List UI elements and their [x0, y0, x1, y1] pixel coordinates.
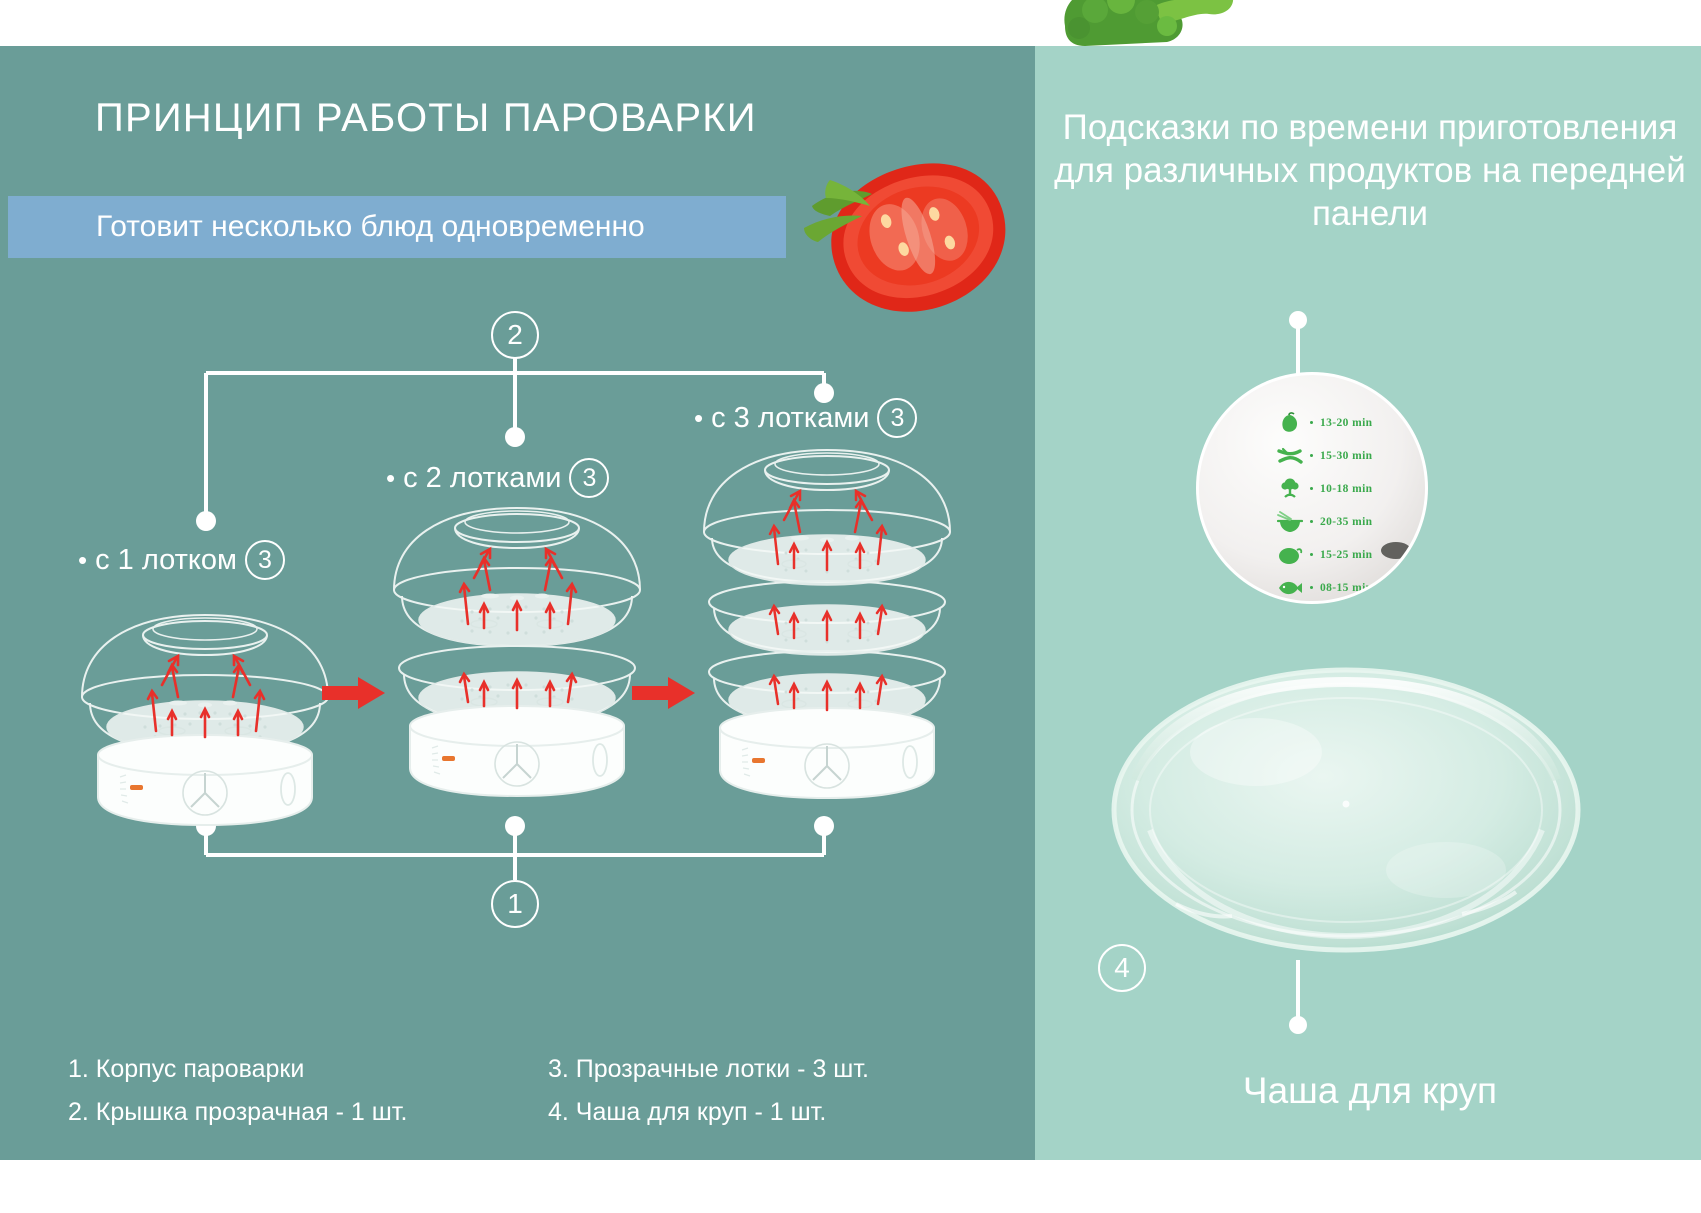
- bullet-icon: •: [694, 405, 703, 431]
- chart-time-fish: 08-15 min: [1320, 582, 1372, 594]
- top-white-margin-left: [0, 0, 1035, 46]
- front-panel-photo: 13-20 min 15-30 min: [1196, 372, 1428, 604]
- bullet-icon: •: [78, 547, 87, 573]
- steamer-3-tray: [682, 442, 972, 832]
- pepper-icon: [1277, 412, 1303, 434]
- bullet-dot: [1310, 586, 1313, 589]
- label-3-trays-text: с 3 лотками: [711, 402, 869, 435]
- chart-time-pepper: 13-20 min: [1320, 417, 1372, 429]
- subtitle-text: Готовит несколько блюд одновременно: [96, 210, 645, 244]
- legend-row: 1. Корпус пароварки 3. Прозрачные лотки …: [68, 1055, 968, 1084]
- label-3-trays: • с 3 лотками 3: [694, 398, 917, 438]
- legend-item-3: 3. Прозрачные лотки - 3 шт.: [548, 1055, 968, 1084]
- bullet-icon: •: [386, 465, 395, 491]
- steamer-1-tray: [60, 585, 350, 830]
- broccoli-icon: [1277, 478, 1303, 500]
- chart-time-broccoli: 10-18 min: [1320, 483, 1372, 495]
- chart-row-potato: 15-25 min: [1277, 543, 1372, 566]
- chart-time-beans: 15-30 min: [1320, 450, 1372, 462]
- page-title: ПРИНЦИП РАБОТЫ ПАРОВАРКИ: [95, 96, 757, 141]
- bullet-dot: [1310, 520, 1313, 523]
- potato-icon: [1277, 544, 1303, 566]
- infographic-root: ПРИНЦИП РАБОТЫ ПАРОВАРКИ Готовит несколь…: [0, 0, 1701, 1213]
- beans-icon: [1277, 445, 1303, 467]
- label-2-trays-text: с 2 лотками: [403, 462, 561, 495]
- tomato-image: [800, 140, 1035, 330]
- bullet-dot: [1310, 421, 1313, 424]
- panel-shadow-detail: [1381, 542, 1411, 559]
- bullet-dot: [1310, 553, 1313, 556]
- rice-bowl-icon: [1277, 511, 1303, 533]
- legend-item-4: 4. Чаша для круп - 1 шт.: [548, 1098, 968, 1127]
- badge-3-trays-c: 3: [877, 398, 917, 438]
- steamer-2-tray: [372, 500, 662, 830]
- chart-time-potato: 15-25 min: [1320, 549, 1372, 561]
- right-panel-title: Подсказки по времени приготовления для р…: [1050, 106, 1690, 235]
- label-2-trays: • с 2 лотками 3: [386, 458, 609, 498]
- bullet-dot: [1310, 454, 1313, 457]
- badge-3-trays-b: 3: [569, 458, 609, 498]
- chart-time-rice-bowl: 20-35 min: [1320, 516, 1372, 528]
- bowl-caption: Чаша для круп: [1050, 1070, 1690, 1112]
- broccoli-image: [1055, 0, 1235, 56]
- label-1-tray: • с 1 лотком 3: [78, 540, 285, 580]
- label-1-tray-text: с 1 лотком: [95, 544, 237, 577]
- fish-icon: [1277, 577, 1303, 599]
- cooking-time-chart: 13-20 min 15-30 min: [1277, 411, 1372, 599]
- badge-3-trays-a: 3: [245, 540, 285, 580]
- chart-row-rice-bowl: 20-35 min: [1277, 510, 1372, 533]
- legend-item-2: 2. Крышка прозрачная - 1 шт.: [68, 1098, 548, 1127]
- chart-row-pepper: 13-20 min: [1277, 411, 1372, 434]
- badge-1-body: 1: [491, 880, 539, 928]
- legend-item-1: 1. Корпус пароварки: [68, 1055, 548, 1084]
- bullet-dot: [1310, 487, 1313, 490]
- chart-row-fish: 08-15 min: [1277, 576, 1372, 599]
- subtitle-banner: Готовит несколько блюд одновременно: [8, 196, 786, 258]
- chart-row-broccoli: 10-18 min: [1277, 477, 1372, 500]
- badge-2-lid: 2: [491, 311, 539, 359]
- chart-row-beans: 15-30 min: [1277, 444, 1372, 467]
- legend-list: 1. Корпус пароварки 3. Прозрачные лотки …: [68, 1055, 968, 1141]
- legend-row: 2. Крышка прозрачная - 1 шт. 4. Чаша для…: [68, 1098, 968, 1127]
- grain-bowl-photo: [1106, 660, 1586, 960]
- bottom-white-margin: [0, 1160, 1701, 1213]
